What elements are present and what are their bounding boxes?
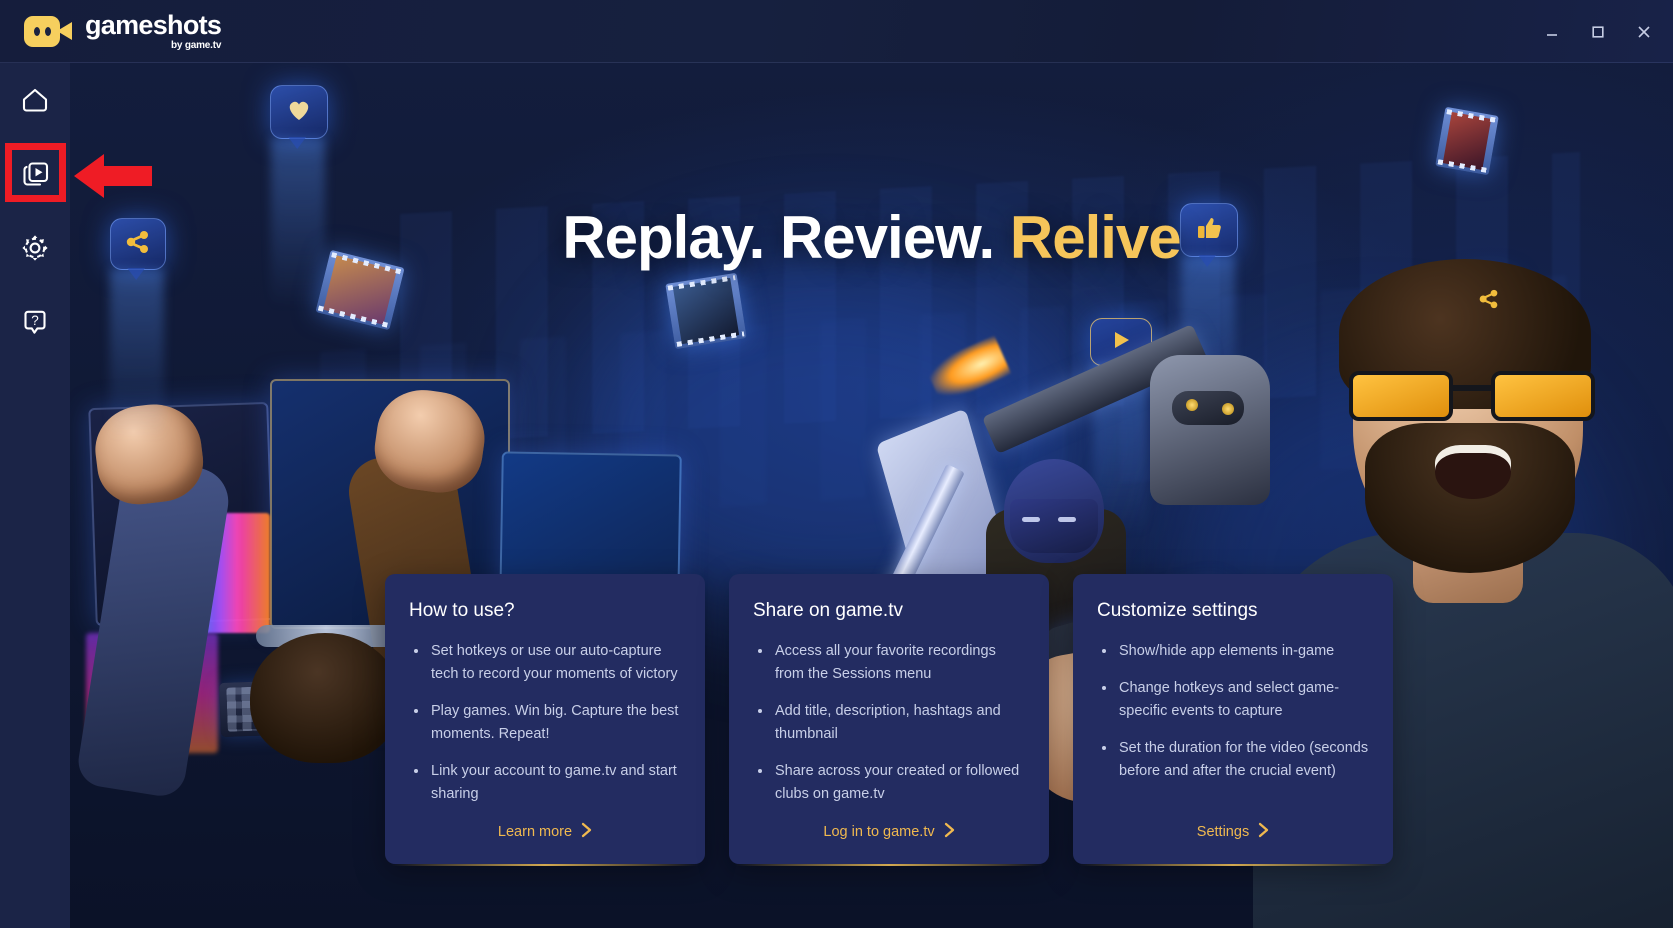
gear-icon [19, 232, 51, 264]
page-title: Replay. Review. Relive [70, 203, 1673, 272]
chevron-right-icon [944, 822, 955, 842]
close-button[interactable] [1621, 12, 1667, 52]
film-strip-icon [665, 273, 746, 349]
chevron-right-icon [1258, 822, 1269, 842]
list-item: Link your account to game.tv and start s… [409, 760, 681, 806]
list-item: Add title, description, hashtags and thu… [753, 700, 1025, 746]
chevron-right-icon [581, 822, 592, 842]
sidebar-item-settings[interactable] [0, 211, 70, 285]
info-cards: How to use? Set hotkeys or use our auto-… [385, 574, 1393, 864]
card-share-on-gametv: Share on game.tv Access all your favorit… [729, 574, 1049, 864]
card-title: How to use? [409, 600, 681, 622]
sunglasses [1349, 371, 1595, 423]
sessions-icon [18, 157, 52, 191]
card-customize-settings: Customize settings Show/hide app element… [1073, 574, 1393, 864]
settings-link[interactable]: Settings [1197, 822, 1269, 842]
sidebar-item-sessions[interactable] [0, 137, 70, 211]
hero-title-yellow: Relive [1010, 204, 1181, 271]
card-how-to-use: How to use? Set hotkeys or use our auto-… [385, 574, 705, 864]
card-bullet-list: Set hotkeys or use our auto-capture tech… [409, 640, 681, 819]
heart-badge [270, 85, 328, 139]
brand-subtitle: by game.tv [171, 41, 221, 51]
camcorder-logo-icon [24, 16, 72, 47]
list-item: Show/hide app elements in-game [1097, 640, 1369, 663]
heart-icon [286, 98, 312, 127]
svg-text:?: ? [31, 313, 39, 328]
gameshots-app-window: gameshots by game.tv [0, 0, 1673, 928]
card-link-label: Settings [1197, 824, 1249, 840]
sidebar-nav: ? [0, 63, 70, 928]
login-to-gametv-link[interactable]: Log in to game.tv [823, 822, 954, 842]
app-logo: gameshots by game.tv [24, 12, 221, 51]
list-item: Change hotkeys and select game-specific … [1097, 677, 1369, 723]
card-link-label: Learn more [498, 824, 572, 840]
brand-name: gameshots [85, 12, 221, 39]
list-item: Access all your favorite recordings from… [753, 640, 1025, 686]
help-icon: ? [19, 306, 51, 338]
list-item: Share across your created or followed cl… [753, 760, 1025, 806]
sidebar-item-home[interactable] [0, 63, 70, 137]
hero-banner: Replay. Review. Relive How to use? Set h… [70, 63, 1673, 928]
list-item: Set the duration for the video (seconds … [1097, 737, 1369, 783]
card-bullet-list: Access all your favorite recordings from… [753, 640, 1025, 819]
minimize-button[interactable] [1529, 12, 1575, 52]
list-item: Play games. Win big. Capture the best mo… [409, 700, 681, 746]
card-bullet-list: Show/hide app elements in-game Change ho… [1097, 640, 1369, 797]
card-title: Share on game.tv [753, 600, 1025, 622]
window-controls [1529, 12, 1667, 52]
card-title: Customize settings [1097, 600, 1369, 622]
learn-more-link[interactable]: Learn more [498, 822, 592, 842]
title-bar: gameshots by game.tv [0, 0, 1673, 63]
film-strip-icon [1435, 107, 1499, 175]
card-link-label: Log in to game.tv [823, 824, 934, 840]
list-item: Set hotkeys or use our auto-capture tech… [409, 640, 681, 686]
sidebar-item-help[interactable]: ? [0, 285, 70, 359]
hero-title-white: Replay. Review. [562, 204, 994, 271]
maximize-button[interactable] [1575, 12, 1621, 52]
home-icon [18, 83, 52, 117]
